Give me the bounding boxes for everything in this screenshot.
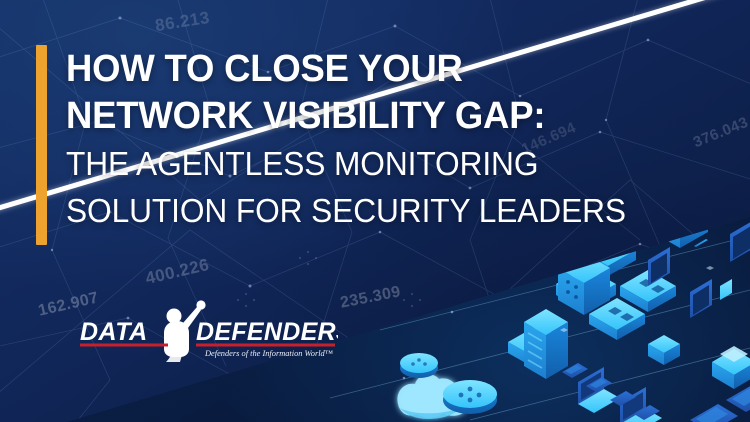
logo-rule-left — [80, 344, 168, 347]
accent-bar — [36, 45, 47, 245]
node-tablet-large — [726, 384, 750, 412]
title-line-4: SOLUTION FOR SECURITY LEADERS — [66, 187, 680, 234]
title-slide: 86.213376.043146.694400.226162.907235.30… — [0, 0, 750, 422]
node-router — [443, 380, 497, 414]
logo-data-defenders: DATA DEFENDERS Defenders of the Informat… — [78, 300, 338, 362]
node-firewall-cube — [648, 335, 680, 365]
background-number: 400.226 — [144, 255, 212, 289]
node-small-monitor — [720, 279, 732, 300]
logo-rule-right — [196, 344, 335, 347]
title-line-2: NETWORK VISIBILITY GAP: — [66, 93, 680, 140]
node-desktop-monitor — [730, 220, 750, 262]
title-line-3: THE AGENTLESS MONITORING — [66, 140, 680, 187]
logo-tagline: Defenders of the Information World™ — [204, 349, 333, 358]
logo-word-data: DATA — [80, 318, 148, 346]
background-number: 86.213 — [154, 8, 211, 36]
node-server-cluster — [700, 39, 744, 81]
logo-svg: DATA DEFENDERS Defenders of the Informat… — [78, 300, 338, 362]
node-access-point — [400, 353, 438, 378]
title-line-1: HOW TO CLOSE YOUR — [66, 46, 680, 93]
node-desktop-monitor — [690, 279, 712, 318]
node-tablet-large — [690, 404, 738, 422]
background-number: 235.309 — [339, 283, 403, 312]
node-printer — [712, 346, 750, 389]
node-storage-array — [524, 309, 568, 379]
page-title: HOW TO CLOSE YOUR NETWORK VISIBILITY GAP… — [66, 46, 706, 234]
logo-word-defenders: DEFENDERS — [196, 318, 338, 346]
